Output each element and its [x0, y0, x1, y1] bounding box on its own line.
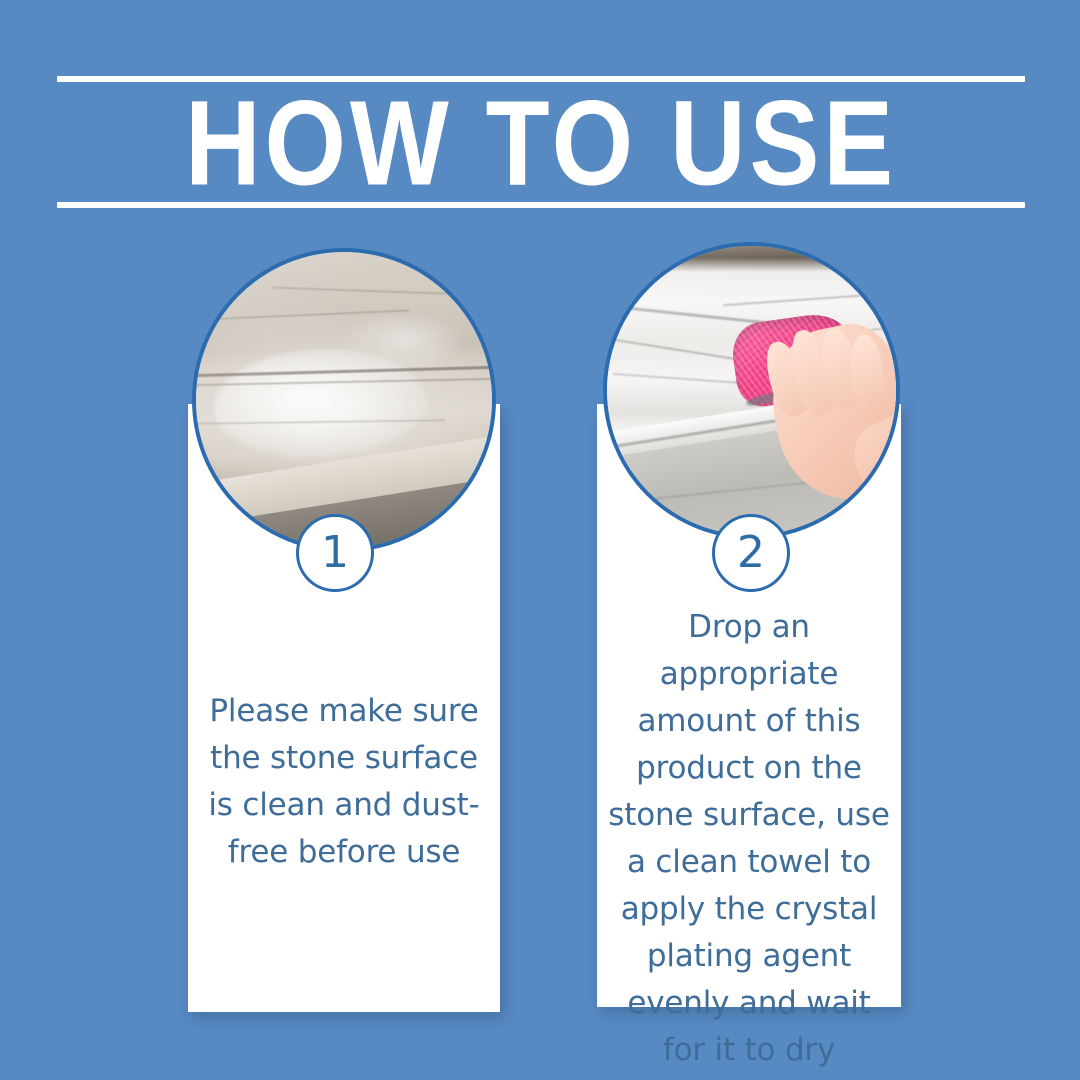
- marble-vein: [273, 287, 468, 295]
- step-1-text: Please make sure the stone surface is cl…: [188, 688, 500, 876]
- cleaning-residue: [214, 350, 427, 457]
- page-title: HOW TO USE: [72, 77, 1011, 209]
- step-2-photo: [603, 242, 900, 539]
- step-number-badge-1: 1: [296, 514, 374, 592]
- title-rule-bottom: [57, 202, 1025, 208]
- infographic-canvas: HOW TO USE Please make sure the stone su…: [0, 0, 1080, 1080]
- marble-surface-image: [196, 252, 492, 548]
- marble-wiping-image: [607, 246, 896, 535]
- step-number-badge-2: 2: [712, 514, 790, 592]
- marble-vein: [723, 292, 900, 306]
- header: HOW TO USE: [57, 76, 1025, 208]
- step-2-text: Drop an appropriate amount of this produ…: [597, 604, 901, 1080]
- step-1-photo: [192, 248, 496, 552]
- marble-vein: [202, 310, 409, 321]
